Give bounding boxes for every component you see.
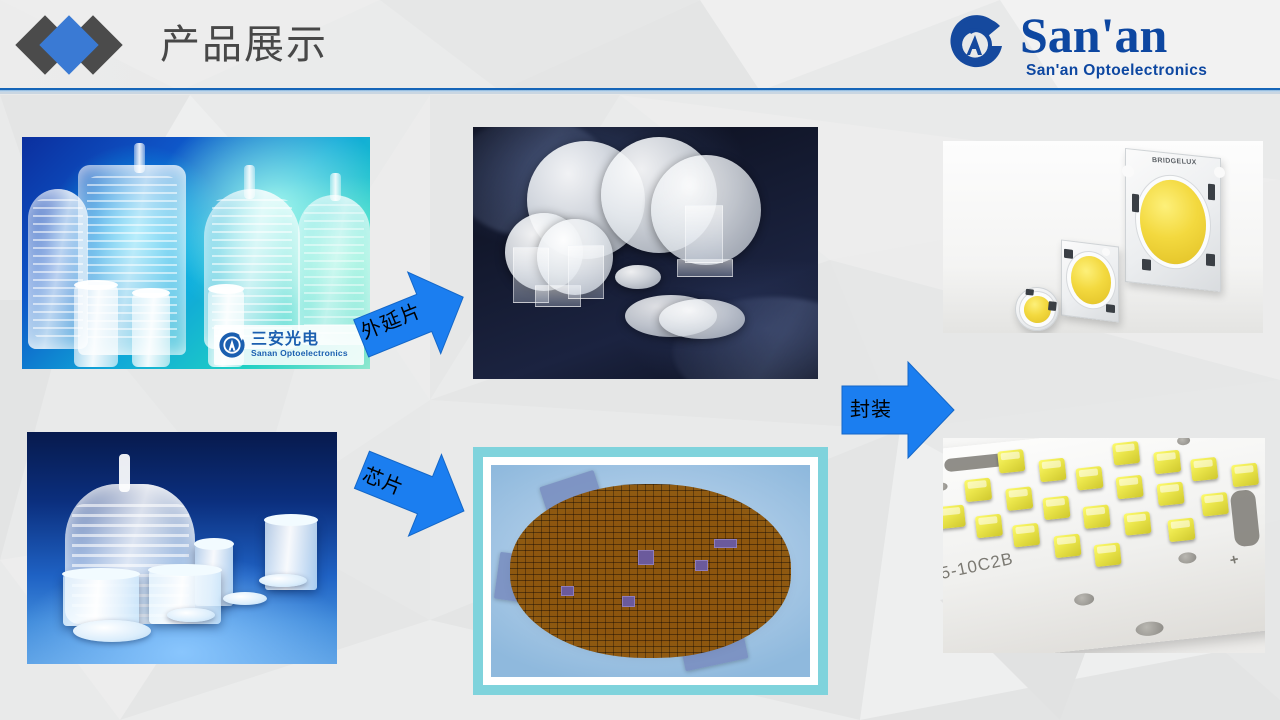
product-image-sapphire-wafers — [473, 127, 818, 379]
sanan-circle-a-icon — [218, 331, 246, 359]
brand-name: San'an — [1020, 6, 1167, 64]
flow-arrow-packaging-label: 封装 — [850, 400, 892, 420]
page-header: 产品展示 San'an San'an Optoelectronics — [0, 0, 1280, 91]
product-image-sapphire-boules: 三安光电 Sanan Optoelectronics — [22, 137, 370, 369]
brand-logo: San'an San'an Optoelectronics — [934, 10, 1264, 82]
sanan-circle-a-icon — [944, 12, 1014, 78]
die-wafer-photo — [491, 465, 810, 677]
die-wafer-frame — [483, 457, 818, 685]
led-pcb: 525-10C2B + — — [943, 438, 1265, 653]
watermark-sanan: 三安光电 Sanan Optoelectronics — [214, 325, 364, 365]
flow-arrow-packaging: 封装 — [838, 356, 958, 464]
flow-arrow-epitaxy: 外延片 — [352, 258, 472, 376]
watermark-cn-text: 三安光电 — [251, 332, 348, 349]
product-image-die-wafer — [473, 447, 828, 695]
watermark-en-text: Sanan Optoelectronics — [251, 349, 348, 358]
pcb-plus-label: + — [1228, 551, 1240, 569]
diamond-trio-icon — [24, 16, 134, 74]
page-title: 产品展示 — [160, 15, 328, 75]
cob-board-logo: BRIDGELUX — [1152, 157, 1197, 166]
brand-subtitle: San'an Optoelectronics — [1026, 62, 1207, 80]
product-image-sapphire-cores — [27, 432, 337, 664]
product-image-cob-modules: BRIDGELUX — [943, 141, 1263, 333]
product-image-led-array: 525-10C2B + — — [943, 438, 1265, 653]
pcb-code-label: 525-10C2B — [943, 548, 1015, 587]
header-accent-rule-secondary — [0, 92, 1280, 94]
flow-arrow-chip: 芯片 — [352, 434, 472, 552]
